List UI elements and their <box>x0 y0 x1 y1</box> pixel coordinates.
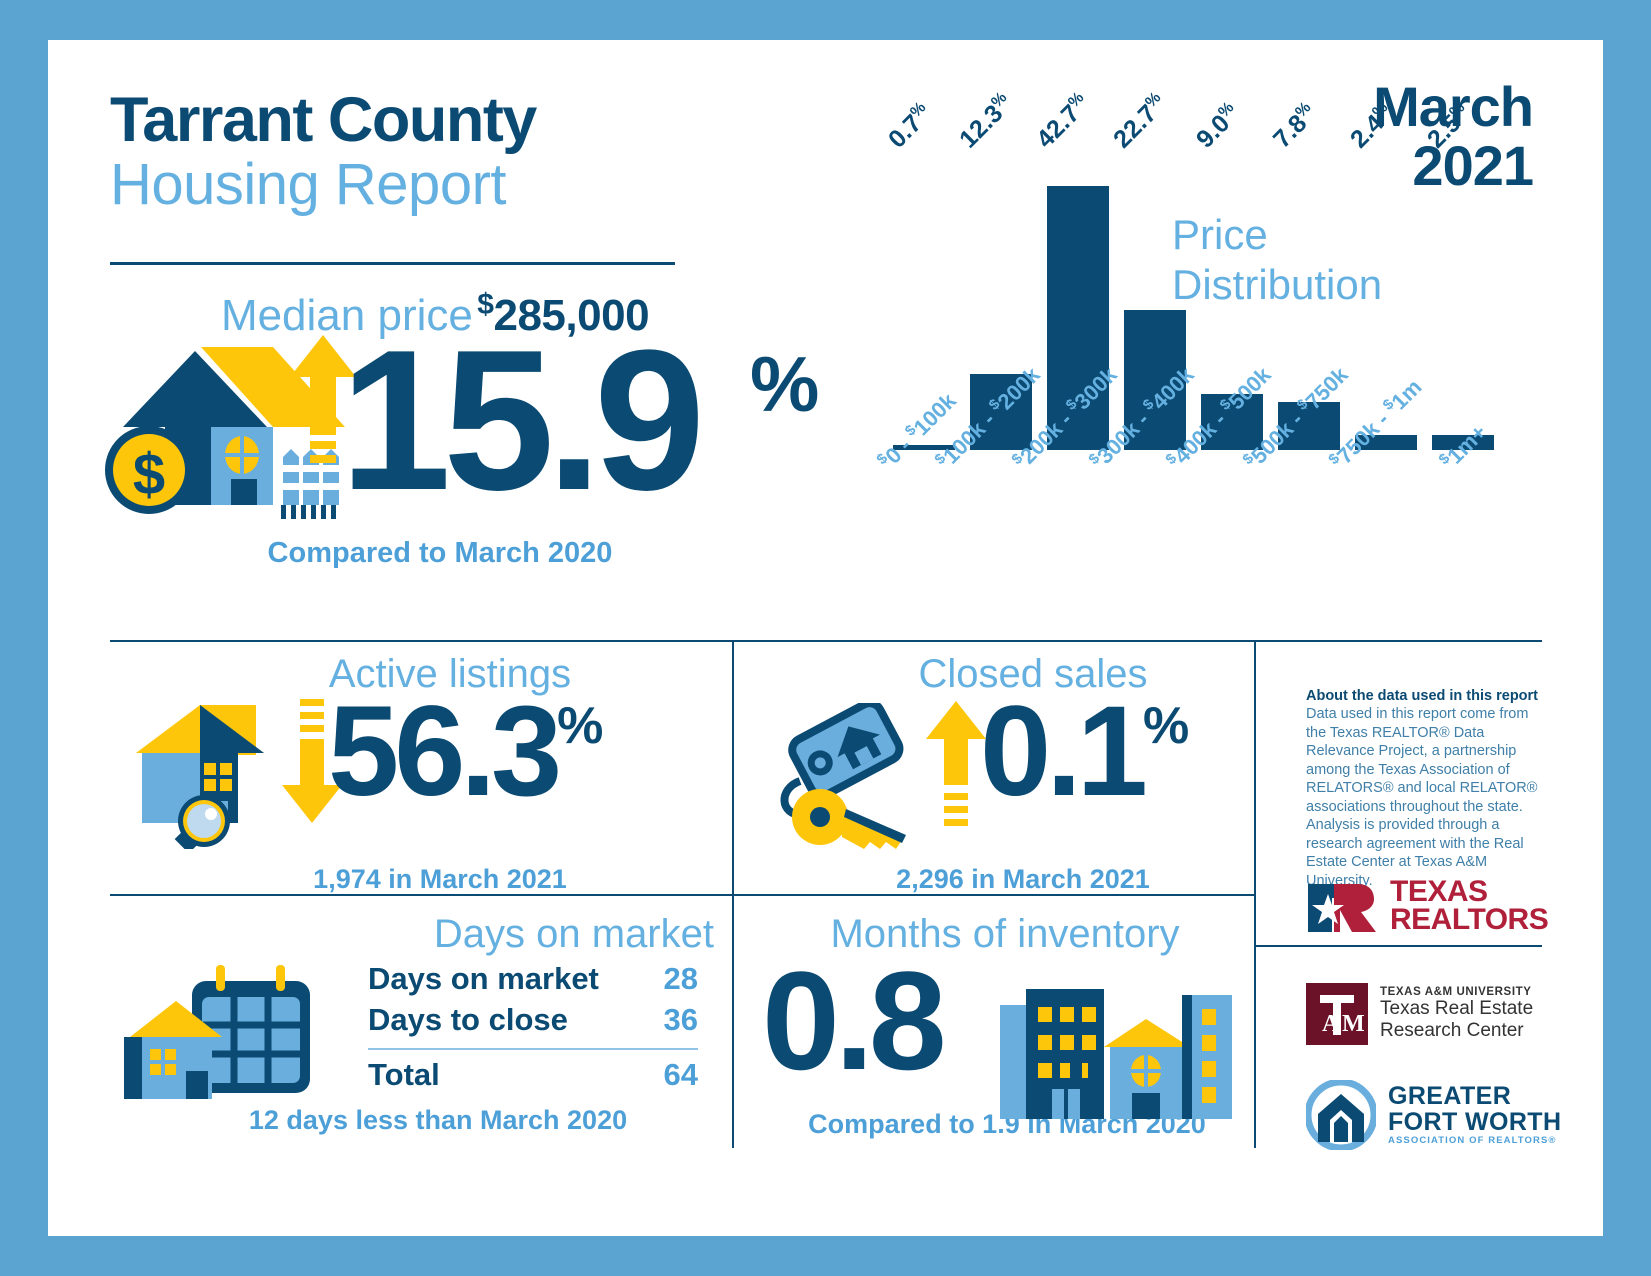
median-price-change-value: 15.9 <box>340 321 697 521</box>
chart-bar-value-label: 22.7% <box>1108 89 1173 154</box>
table-total-row: Total 64 <box>368 1055 698 1096</box>
page-title: Tarrant County Housing Report <box>110 88 750 217</box>
texas-realtors-line1: TEXAS <box>1390 878 1548 906</box>
chart-x-label-column: $500k - $750k <box>1270 450 1347 600</box>
price-distribution-chart: Price Distribution 0.7%12.3%42.7%22.7%9.… <box>878 100 1538 600</box>
city-buildings-icon <box>996 971 1236 1121</box>
chart-bar-column: 2.5% <box>1424 160 1501 450</box>
am-university-label: TEXAS A&M UNIVERSITY <box>1380 986 1533 998</box>
median-price-figure-row: $ 15.9 % <box>110 333 750 523</box>
table-row: Days to close 36 <box>368 1000 698 1041</box>
greater-fort-worth-logo: GREATER FORT WORTH ASSOCIATION OF REALTO… <box>1306 1080 1561 1150</box>
active-listings-percent-sign: % <box>557 697 603 755</box>
gfw-line3: ASSOCIATION OF REALTORS® <box>1388 1135 1561 1146</box>
days-on-market-table: Days on market 28 Days to close 36 Total… <box>368 959 698 1096</box>
title-divider <box>110 262 675 265</box>
svg-text:$: $ <box>133 442 165 507</box>
table-row: Days on market 28 <box>368 959 698 1000</box>
chart-bar-value-label: 2.4% <box>1344 99 1399 154</box>
gfw-line1: GREATER <box>1388 1084 1561 1110</box>
title-subtitle: Housing Report <box>110 154 750 217</box>
row-label: Days to close <box>368 1000 568 1041</box>
texas-realtors-logo: TEXAS REALTORS <box>1306 878 1548 934</box>
total-value: 64 <box>664 1055 698 1096</box>
active-listings-panel: Active listings <box>110 652 730 895</box>
chart-bar-value-label: 12.3% <box>954 89 1019 154</box>
chart-bar-value-label: 0.7% <box>883 99 938 154</box>
title-main: Tarrant County <box>110 88 750 152</box>
chart-bar-value-label: 9.0% <box>1191 99 1246 154</box>
am-center-line1: Texas Real Estate <box>1380 998 1533 1020</box>
about-data-block: About the data used in this report Data … <box>1306 688 1548 890</box>
closed-sales-value: 0.1 <box>980 680 1143 823</box>
closed-sales-footnote: 2,296 in March 2021 <box>798 864 1248 895</box>
chart-bar-value-label: 2.5% <box>1421 99 1476 154</box>
total-label: Total <box>368 1055 440 1096</box>
closed-sales-percent-sign: % <box>1143 697 1189 755</box>
chart-x-axis-labels: $0 - $100k$100k - $200k$200k - $300k$300… <box>886 450 1501 600</box>
row-label: Days on market <box>368 959 599 1000</box>
chart-x-label-column: $1m+ <box>1424 450 1501 600</box>
median-price-footnote: Compared to March 2020 <box>130 537 750 570</box>
days-on-market-title: Days on market <box>110 912 714 957</box>
am-wordmark: TEXAS A&M UNIVERSITY Texas Real Estate R… <box>1380 986 1533 1042</box>
svg-text:A: A <box>1322 1011 1340 1037</box>
arrow-up-icon-closed-sales <box>924 699 988 829</box>
closed-sales-stat: 0.1% <box>980 693 1189 811</box>
row-value: 28 <box>664 959 698 1000</box>
am-center-line2: Research Center <box>1380 1020 1533 1042</box>
divider-vertical-center <box>732 640 734 1148</box>
am-mark-icon: A M <box>1306 983 1368 1045</box>
active-listings-value: 56.3 <box>328 680 557 823</box>
closed-sales-panel: Closed sales <box>748 652 1248 895</box>
chart-x-label-column: $750k - $1m <box>1347 450 1424 600</box>
active-listings-footnote: 1,974 in March 2021 <box>150 864 730 895</box>
median-price-percent-sign: % <box>750 345 819 423</box>
texas-realtors-wordmark: TEXAS REALTORS <box>1390 878 1548 934</box>
gfw-line2: FORT WORTH <box>1388 1110 1561 1136</box>
active-listings-stat: 56.3% <box>328 693 603 811</box>
about-heading: About the data used in this report <box>1306 688 1548 704</box>
texas-realtors-mark-icon <box>1306 878 1380 934</box>
svg-text:M: M <box>1342 1011 1365 1037</box>
gfw-mark-icon <box>1306 1080 1376 1150</box>
table-separator <box>368 1048 698 1050</box>
median-price-section: Median price $285,000 <box>110 288 750 570</box>
days-on-market-panel: Days on market <box>110 912 730 1136</box>
months-inventory-value: 0.8 <box>762 957 942 1086</box>
months-inventory-panel: Months of inventory 0.8 <box>748 912 1248 1140</box>
divider-upper <box>110 640 1542 642</box>
gfw-wordmark: GREATER FORT WORTH ASSOCIATION OF REALTO… <box>1388 1084 1561 1146</box>
divider-mid-right <box>1254 945 1542 947</box>
am-monogram-icon: A M <box>1306 983 1368 1045</box>
texas-realtors-line2: REALTORS <box>1390 906 1548 934</box>
chart-bar-value-label: 7.8% <box>1267 99 1322 154</box>
row-value: 36 <box>664 1000 698 1041</box>
about-body: Data used in this report come from the T… <box>1306 705 1548 890</box>
texas-am-logo: A M TEXAS A&M UNIVERSITY Texas Real Esta… <box>1306 983 1533 1045</box>
divider-vertical-right <box>1254 640 1256 1148</box>
report-page: Tarrant County Housing Report March 2021… <box>48 40 1603 1236</box>
house-calendar-icon <box>120 959 320 1114</box>
chart-bar-value-label: 42.7% <box>1031 89 1096 154</box>
